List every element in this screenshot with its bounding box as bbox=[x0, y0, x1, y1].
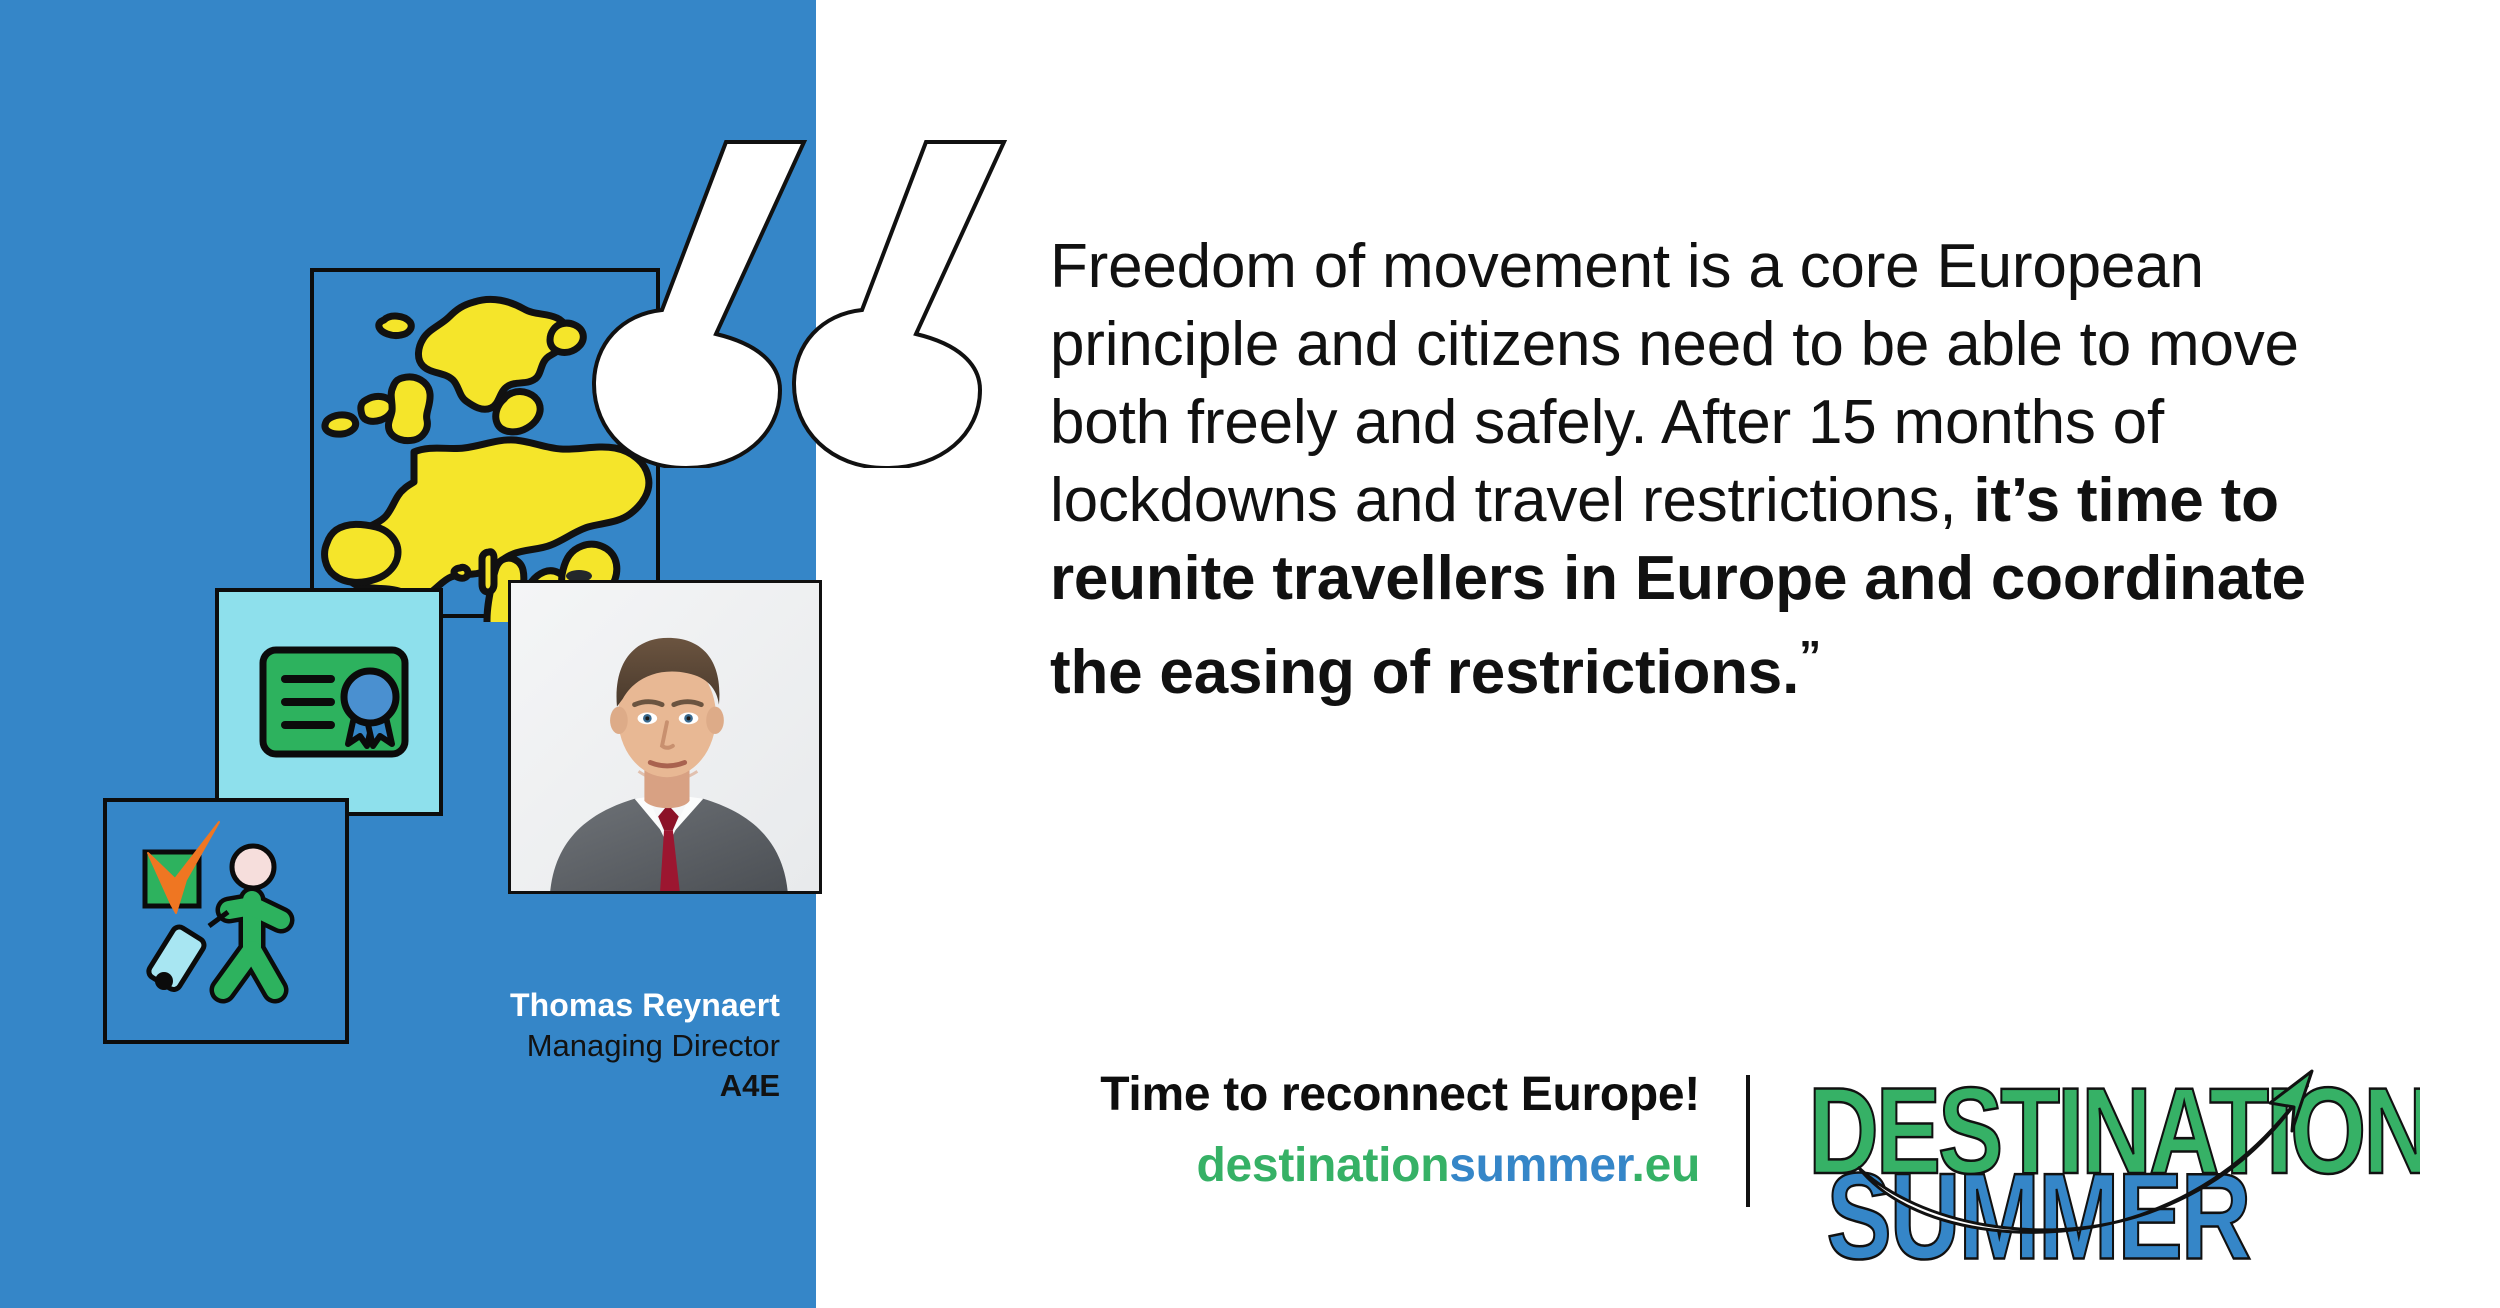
quote-paragraph: Freedom of movement is a core European p… bbox=[1050, 228, 2370, 712]
destination-summer-logo: DESTINATION SUMMER bbox=[1800, 1045, 2420, 1265]
speaker-organisation: A4E bbox=[300, 1066, 780, 1106]
certificate-tile bbox=[215, 588, 443, 816]
branding-row: Time to reconnect Europe! destinationsum… bbox=[940, 1055, 2470, 1255]
attribution-block: Thomas Reynaert Managing Director A4E bbox=[300, 985, 780, 1105]
logo-line2: SUMMER bbox=[1827, 1147, 2250, 1265]
website-part-tld: .eu bbox=[1632, 1139, 1700, 1192]
speaker-role: Managing Director bbox=[300, 1026, 780, 1066]
opening-quote-mark bbox=[588, 138, 1018, 468]
speaker-portrait bbox=[508, 580, 822, 894]
website-part-summer: summer bbox=[1449, 1139, 1631, 1192]
poster-canvas: Thomas Reynaert Managing Director A4E Fr… bbox=[0, 0, 2500, 1308]
campaign-website[interactable]: destinationsummer.eu bbox=[940, 1138, 1700, 1195]
certificate-icon bbox=[259, 642, 409, 762]
campaign-tagline: Time to reconnect Europe! bbox=[940, 1067, 1700, 1124]
tagline-wrap: Time to reconnect Europe! destinationsum… bbox=[940, 1067, 1700, 1194]
portrait-illustration bbox=[511, 583, 819, 891]
closing-quote-mark: ” bbox=[1799, 632, 1821, 681]
vertical-divider bbox=[1746, 1075, 1750, 1207]
logo-artwork: DESTINATION SUMMER bbox=[1800, 1045, 2420, 1265]
website-part-destination: destination bbox=[1197, 1139, 1450, 1192]
quote-block: Freedom of movement is a core European p… bbox=[1050, 228, 2370, 712]
speaker-name: Thomas Reynaert bbox=[300, 985, 780, 1026]
